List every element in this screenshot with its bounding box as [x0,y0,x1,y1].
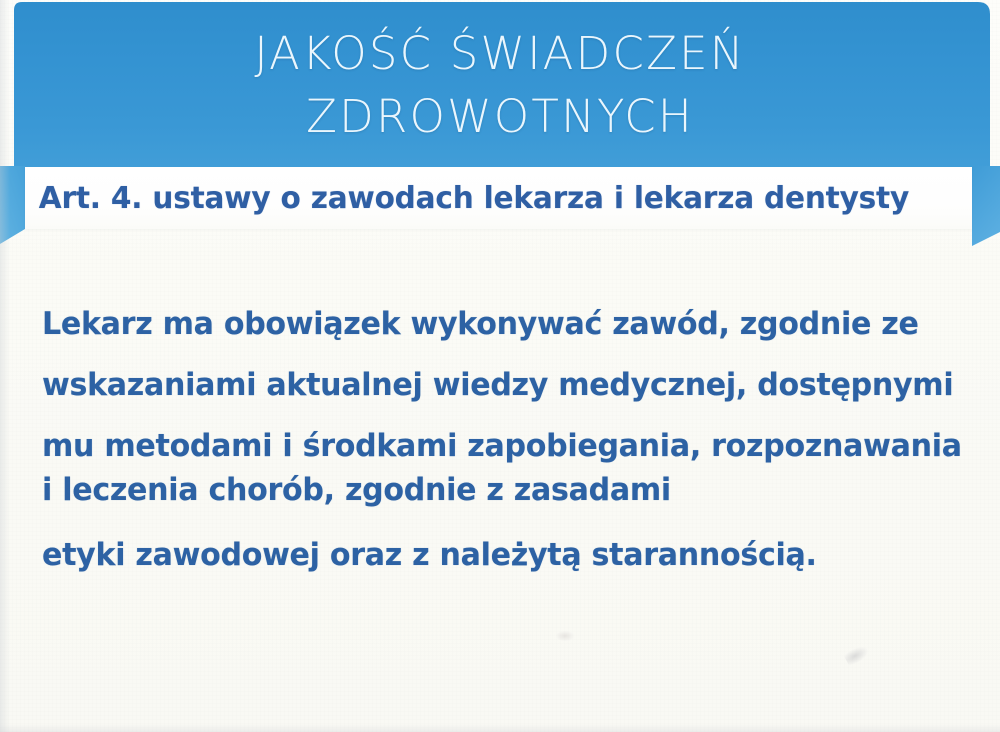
header-title-line-1: JAKOŚĆ ŚWIADCZEŃ [0,22,1000,85]
header-title-line-2: ZDROWOTNYCH [0,85,1000,148]
subtitle-text: Art. 4. ustawy o zawodach lekarza i leka… [25,181,909,216]
body-line: etyki zawodowej oraz z należytą staranno… [42,537,944,573]
slide-canvas: JAKOŚĆ ŚWIADCZEŃ ZDROWOTNYCH Art. 4. ust… [0,0,1000,732]
subtitle-band: Art. 4. ustawy o zawodach lekarza i leka… [25,167,972,229]
banner-right-tail [972,166,1000,246]
banner-left-tail [0,166,25,244]
body-line: mu metodami i środkami zapobiegania, roz… [42,428,944,464]
body-line: i leczenia chorób, zgodnie z zasadami [42,472,944,508]
body-paragraph: Lekarz ma obowiązek wykonywać zawód, zgo… [42,306,972,573]
body-line: Lekarz ma obowiązek wykonywać zawód, zgo… [42,306,944,342]
header-title-group: JAKOŚĆ ŚWIADCZEŃ ZDROWOTNYCH [0,22,1000,148]
body-line: wskazaniami aktualnej wiedzy medycznej, … [42,367,944,403]
